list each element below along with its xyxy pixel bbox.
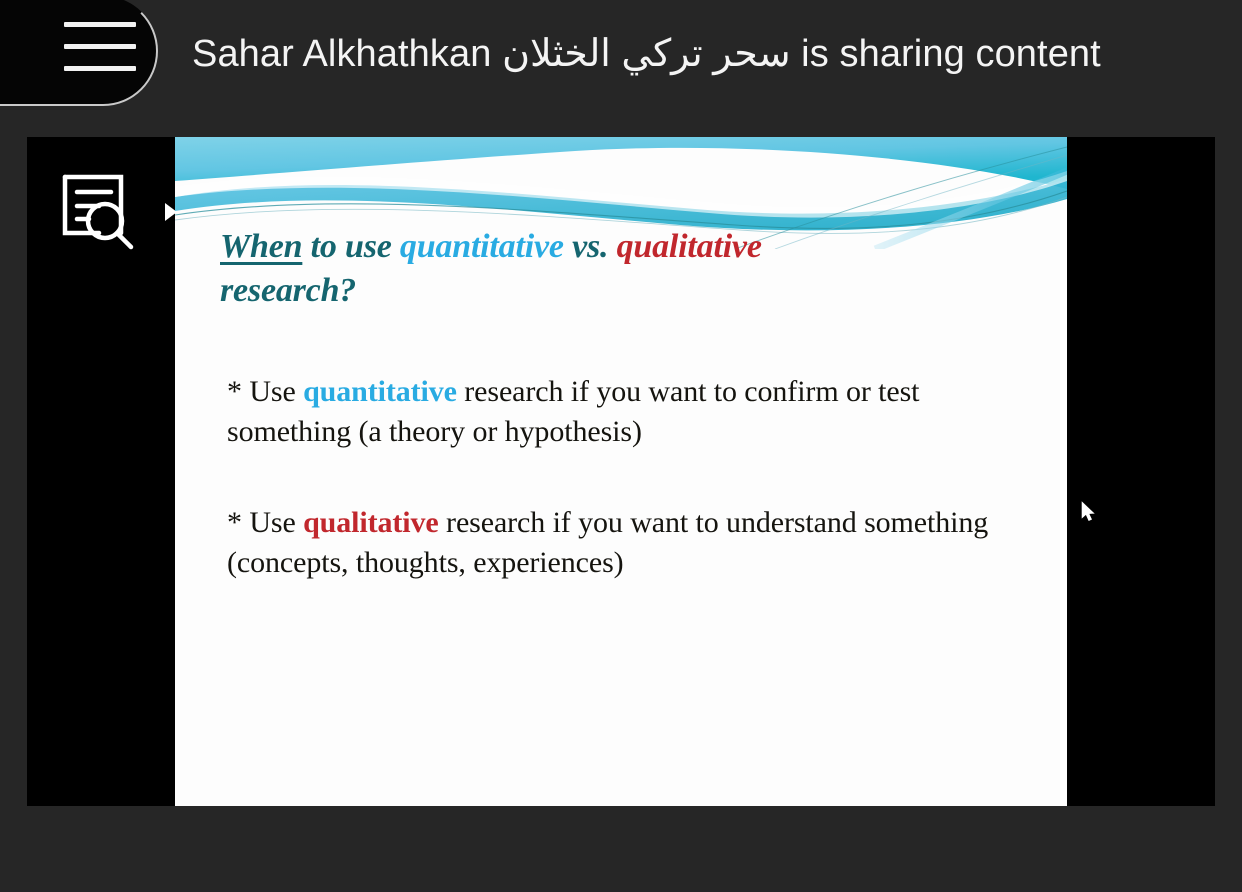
sharing-status-title: Sahar Alkhathkan سحر تركي الخثلان is sha… [192,0,1101,110]
mouse-pointer-icon [1081,501,1097,523]
slide-bullet: * Use qualitative research if you want t… [227,503,1027,583]
slide-title-to-use: to use [302,228,400,265]
slide-title-quantitative: quantitative [400,228,564,265]
slide-title-when: When [220,228,302,265]
presentation-slide: When to use quantitative vs. qualitative… [175,137,1067,806]
bullet-keyword: quantitative [303,375,457,408]
top-bar: Sahar Alkhathkan سحر تركي الخثلان is sha… [0,0,1242,110]
slide-bullet: * Use quantitative research if you want … [227,372,1027,452]
hamburger-line [64,22,136,27]
slide-title-research: research? [220,272,356,309]
slide-title-qualitative: qualitative [617,228,762,265]
bullet-marker: * [227,375,249,408]
slide-title: When to use quantitative vs. qualitative… [220,225,1020,313]
hamburger-line [64,66,136,71]
bullet-lead: Use [249,375,303,408]
hamburger-menu-icon [64,22,136,72]
slide-title-vs: vs. [564,228,617,265]
bullet-lead: Use [249,506,303,539]
shared-content-stage: When to use quantitative vs. qualitative… [27,137,1215,806]
bullet-keyword: qualitative [303,506,439,539]
hamburger-menu-button[interactable] [0,0,158,106]
document-search-icon[interactable] [59,171,145,257]
hamburger-line [64,44,136,49]
bullet-marker: * [227,506,249,539]
